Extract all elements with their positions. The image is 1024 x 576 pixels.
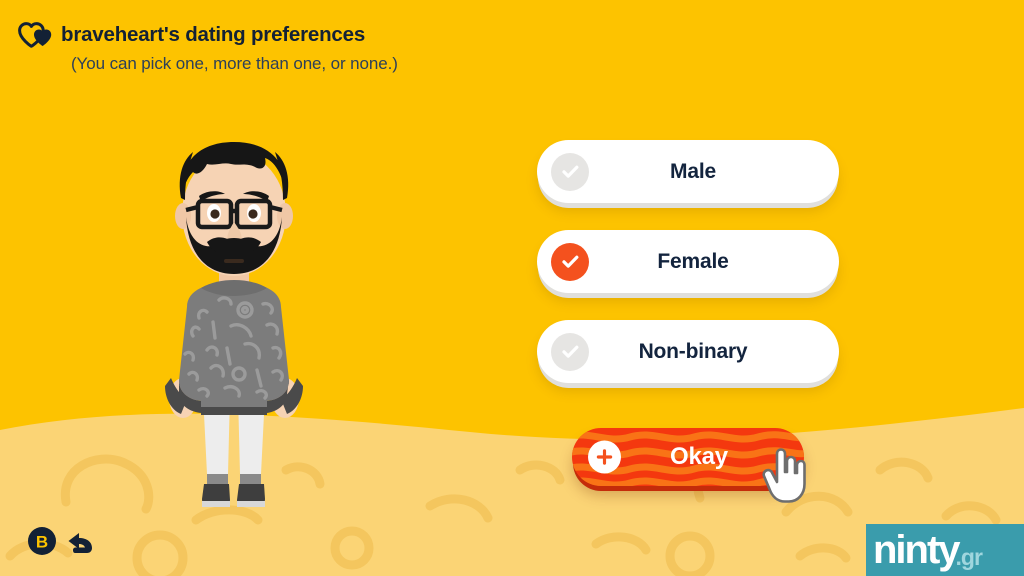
page-subtitle: (You can pick one, more than one, or non… <box>71 54 638 74</box>
pointing-hand-cursor <box>760 448 808 504</box>
b-button-icon[interactable]: B <box>27 526 57 556</box>
bottom-controls: B <box>27 526 96 556</box>
avatar-shirt <box>165 280 303 415</box>
ninty-gr-logo: ninty .gr <box>866 524 1024 576</box>
logo-wordmark: ninty <box>873 530 959 570</box>
check-circle-icon <box>551 153 589 191</box>
avatar <box>127 122 342 514</box>
check-circle-icon <box>551 333 589 371</box>
logo-tld: .gr <box>956 546 982 569</box>
avatar-shoes <box>202 484 265 507</box>
avatar-head <box>175 142 293 276</box>
plus-circle-icon <box>588 441 621 474</box>
option-female[interactable]: Female <box>537 230 839 293</box>
title-row: braveheart's dating preferences <box>18 22 638 48</box>
svg-text:B: B <box>36 533 48 552</box>
header: braveheart's dating preferences (You can… <box>18 22 638 74</box>
option-non-binary[interactable]: Non-binary <box>537 320 839 383</box>
game-screen: braveheart's dating preferences (You can… <box>0 0 1024 576</box>
back-arrow-icon[interactable] <box>66 526 96 556</box>
preference-options: Male Female Non-binary <box>537 140 839 410</box>
check-circle-icon <box>551 243 589 281</box>
option-male[interactable]: Male <box>537 140 839 203</box>
page-title: braveheart's dating preferences <box>61 23 365 47</box>
double-heart-icon <box>18 22 52 48</box>
